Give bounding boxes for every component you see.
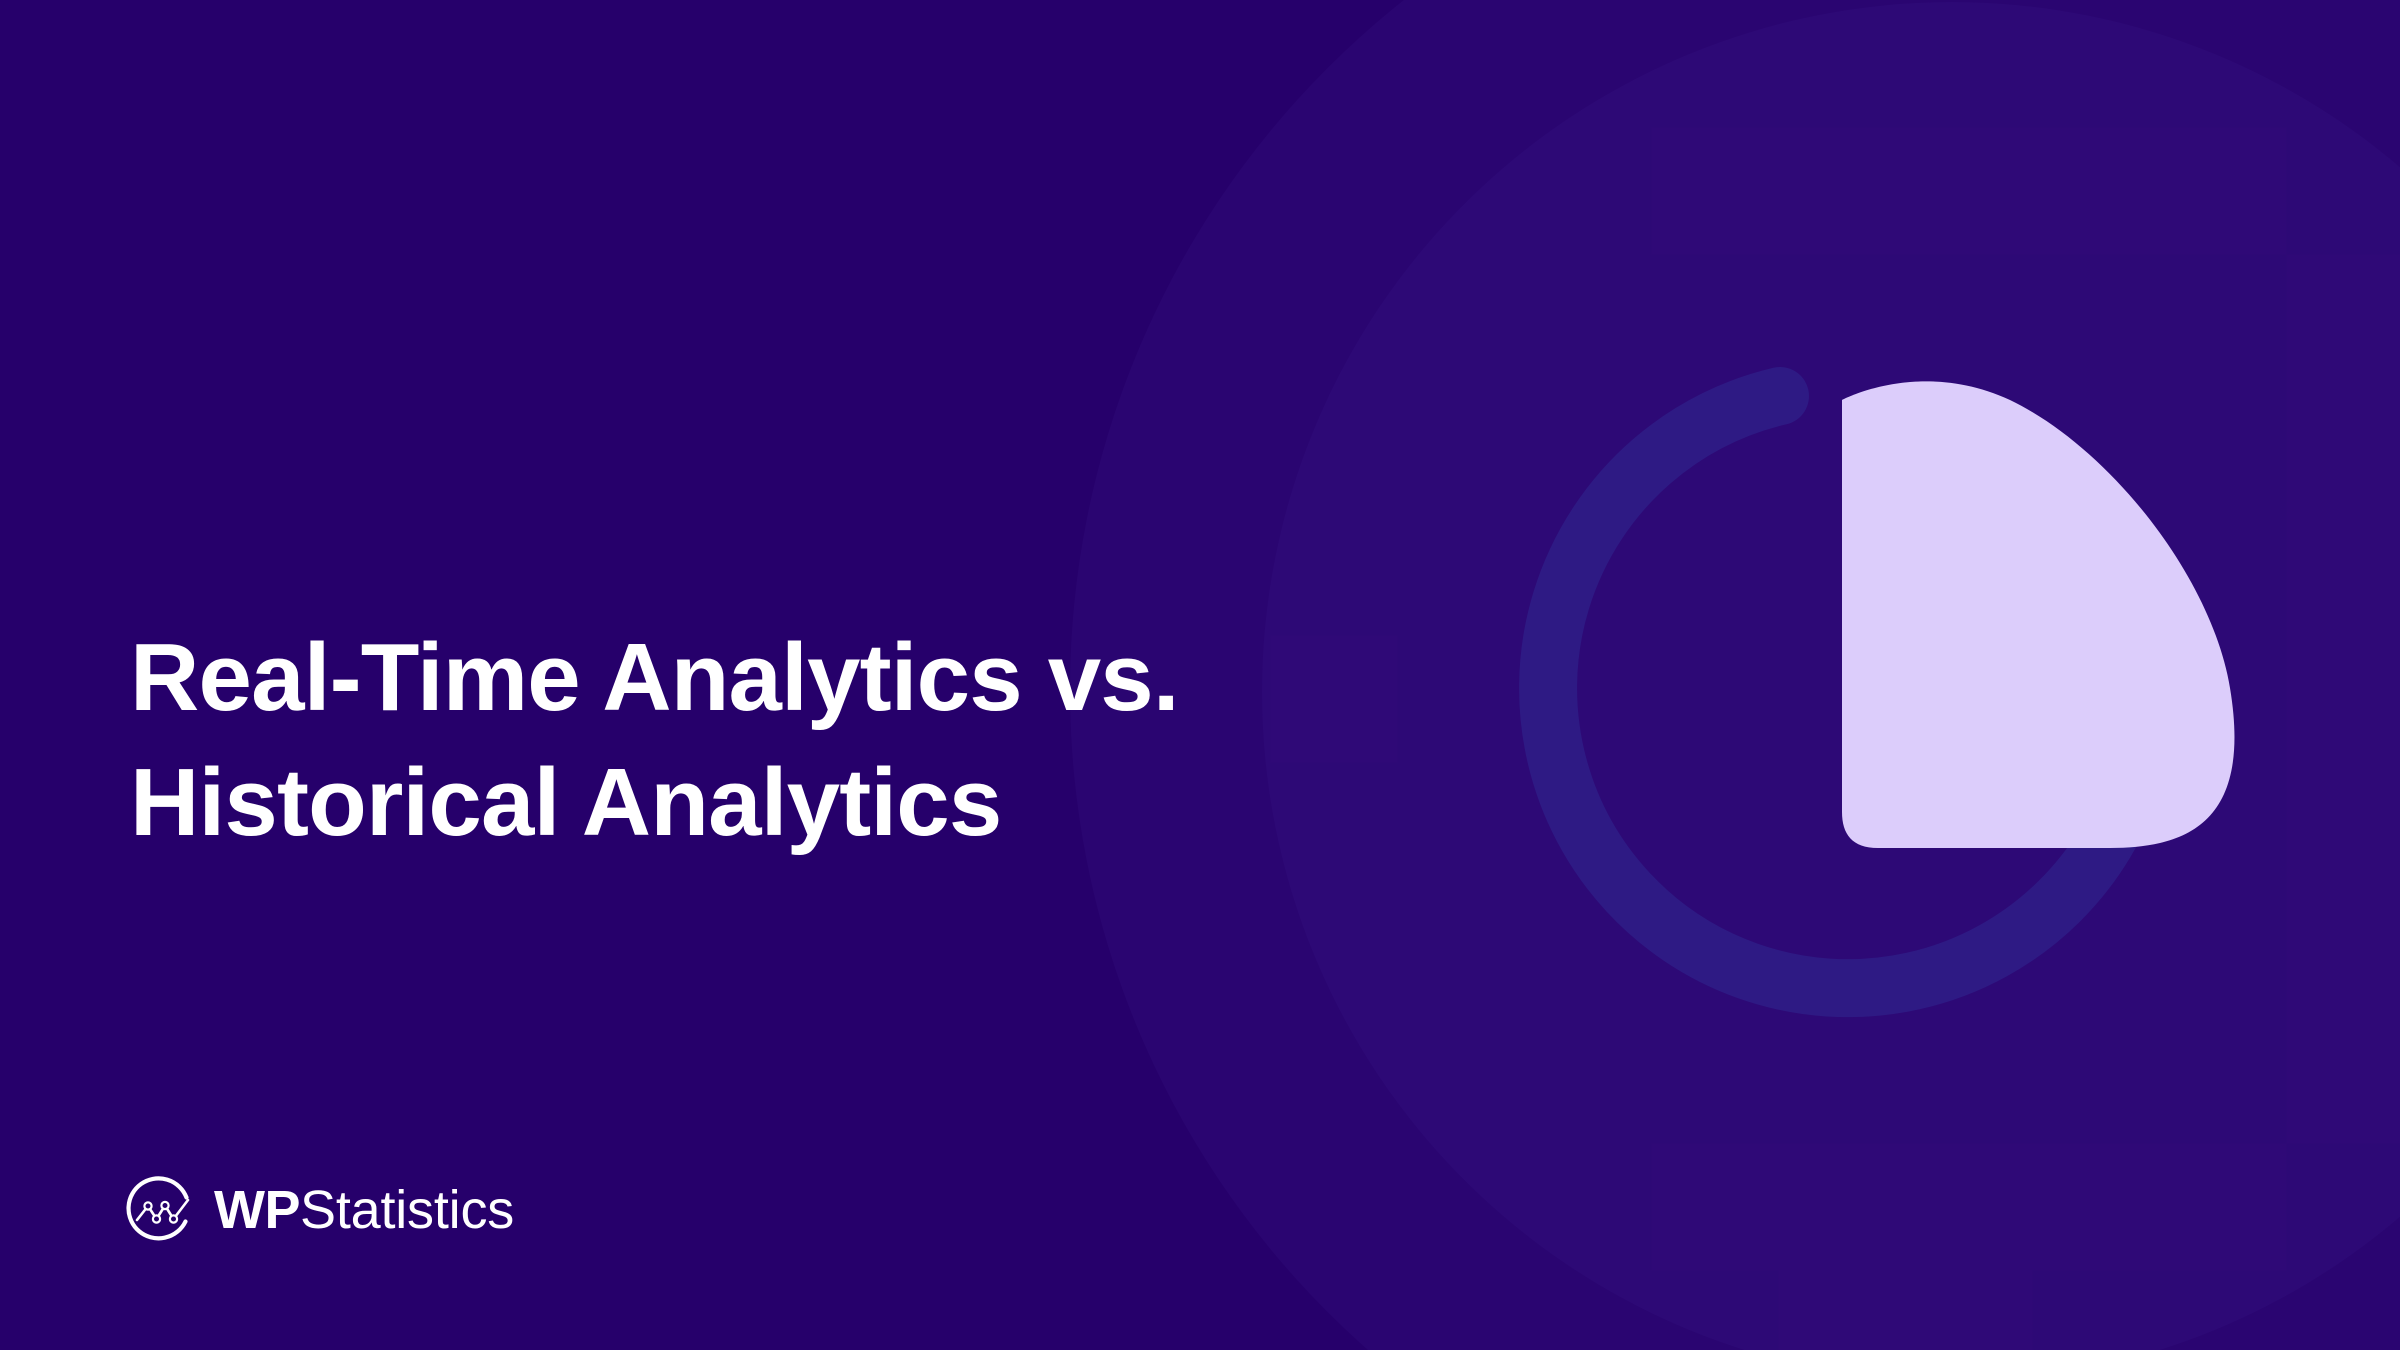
brand-logo: WPStatistics <box>124 1172 514 1248</box>
brand-wordmark-statistics: Statistics <box>300 1183 514 1237</box>
brand-wordmark-wp: WP <box>214 1183 300 1237</box>
pie-chart-graphic <box>1490 300 2270 1080</box>
pie-highlight-slice <box>1842 381 2234 848</box>
brand-wordmark: WPStatistics <box>214 1183 514 1237</box>
slide-canvas: Real-Time Analytics vs. Historical Analy… <box>0 0 2400 1350</box>
page-title: Real-Time Analytics vs. Historical Analy… <box>130 616 1310 866</box>
circle-line-chart-icon <box>124 1172 200 1248</box>
